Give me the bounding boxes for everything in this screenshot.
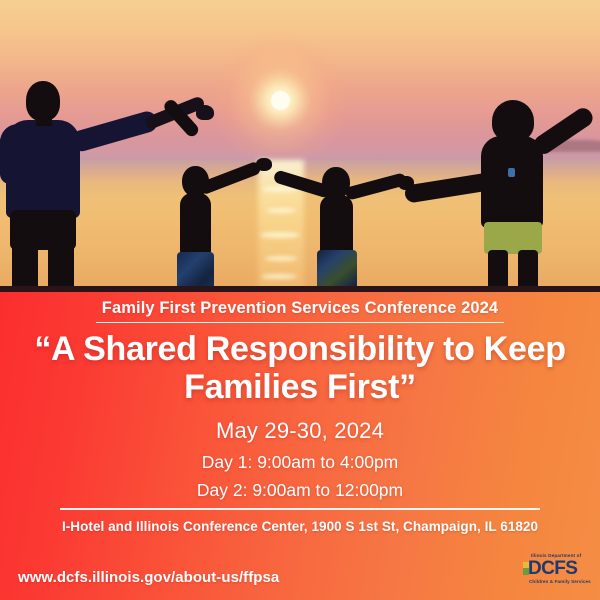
reflection-streak: [260, 232, 300, 238]
silhouette-child-left-head: [182, 166, 209, 197]
event-details-banner: Family First Prevention Services Confere…: [0, 292, 600, 600]
silhouette-child-left-torso: [180, 193, 211, 255]
reflection-streak: [265, 256, 297, 261]
silhouette-child-right-torso: [320, 195, 353, 255]
reflection-streak: [261, 274, 297, 279]
dcfs-wordmark: DCFS: [528, 559, 577, 578]
silhouette-child-left-hand: [256, 158, 272, 171]
conference-flyer: Family First Prevention Services Confere…: [0, 0, 600, 600]
divider: [60, 508, 540, 510]
headline-line-1: “A Shared Responsibility to Keep: [14, 330, 586, 368]
website-url[interactable]: www.dcfs.illinois.gov/about-us/ffpsa: [18, 569, 279, 586]
silhouette-adult-right-head: [496, 104, 528, 142]
event-time-day2: Day 2: 9:00am to 12:00pm: [0, 480, 600, 501]
headline: “A Shared Responsibility to Keep Familie…: [14, 330, 586, 406]
conference-kicker: Family First Prevention Services Confere…: [96, 299, 504, 323]
event-time-day1: Day 1: 9:00am to 4:00pm: [0, 452, 600, 473]
sunset-family-photo: [0, 0, 600, 293]
dcfs-logo: Illinois Department of DCFS Children & F…: [523, 554, 587, 588]
silhouette-adult-right-torso: [481, 136, 543, 228]
sun-icon: [271, 91, 290, 110]
silhouette-adult-left-torso: [6, 120, 80, 218]
conference-kicker-wrap: Family First Prevention Services Confere…: [0, 299, 600, 323]
dcfs-logo-mark: DCFS: [523, 560, 587, 579]
silhouette-adult-right-hand: [398, 176, 414, 190]
silhouette-adult-right-shirt-detail: [508, 168, 515, 177]
silhouette-adult-left-hand: [196, 105, 214, 120]
venue-address: I-Hotel and Illinois Conference Center, …: [0, 519, 600, 534]
silhouette-adult-left-head: [26, 81, 60, 121]
dcfs-logo-bottom-text: Children & Family Services: [523, 580, 587, 585]
headline-line-2: Families First”: [14, 368, 586, 406]
reflection-streak: [266, 208, 296, 213]
event-date: May 29-30, 2024: [0, 418, 600, 444]
silhouette-child-right-head: [322, 167, 350, 199]
